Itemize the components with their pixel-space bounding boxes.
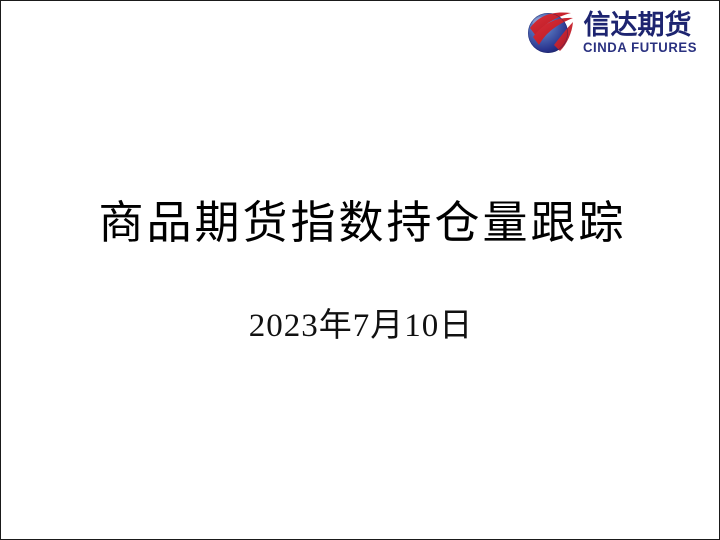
- title-slide: 信达期货 CINDA FUTURES 商品期货指数持仓量跟踪 2023年7月10…: [0, 0, 720, 540]
- logo-company-name-en: CINDA FUTURES: [583, 41, 697, 55]
- title-placeholder: 商品期货指数持仓量跟踪: [1, 197, 720, 250]
- subtitle-placeholder: 2023年7月10日: [1, 307, 720, 347]
- logo-company-name-cn: 信达期货: [583, 12, 691, 39]
- company-logo: 信达期货 CINDA FUTURES: [523, 7, 701, 59]
- cinda-sphere-ribbon-logo-icon: [523, 8, 577, 58]
- slide-title: 商品期货指数持仓量跟踪: [1, 197, 720, 250]
- slide-date: 2023年7月10日: [1, 307, 720, 347]
- logo-wordmark: 信达期货 CINDA FUTURES: [583, 12, 701, 55]
